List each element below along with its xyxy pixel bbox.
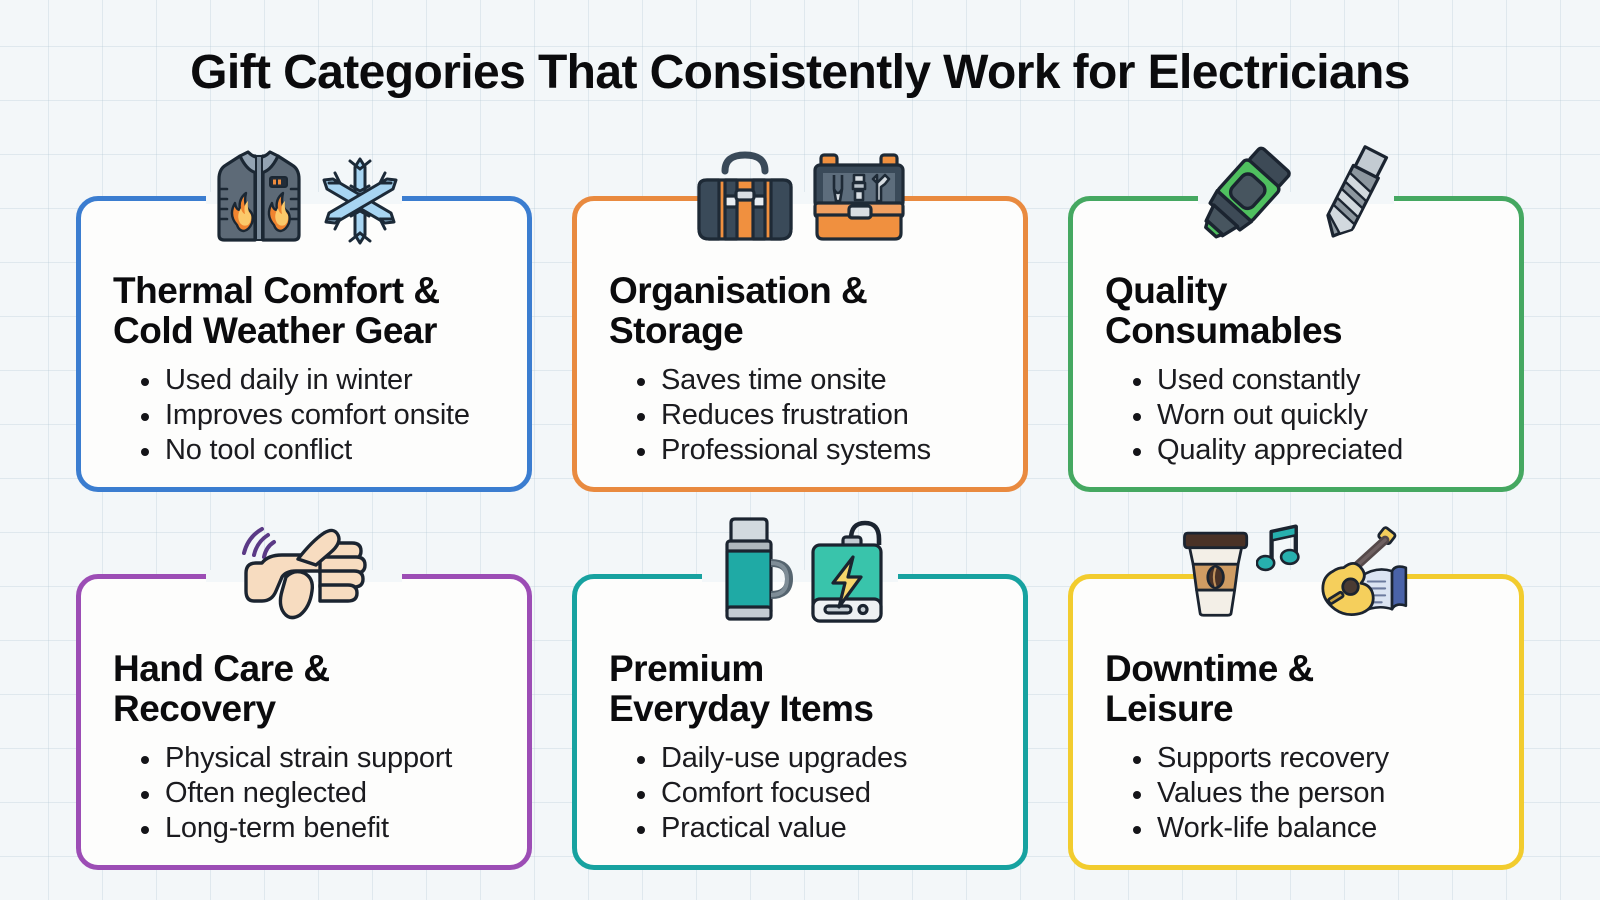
list-item: Worn out quickly	[1131, 398, 1497, 433]
card-downtime-leisure[interactable]: Downtime & Leisure Supports recovery Val…	[1068, 574, 1524, 870]
card-icon-group	[189, 139, 419, 247]
list-item: Reduces frustration	[635, 398, 1001, 433]
card-bullet-list: Supports recovery Values the person Work…	[1131, 741, 1497, 846]
list-item: Often neglected	[139, 776, 505, 811]
highlighter-marker-icon	[1188, 143, 1298, 247]
card-thermal-comfort-cold-weather-gear[interactable]: Thermal Comfort & Cold Weather Gear Used…	[76, 196, 532, 492]
card-title: Organisation & Storage	[609, 271, 1001, 351]
list-item: Practical value	[635, 811, 1001, 846]
card-bullet-list: Physical strain support Often neglected …	[139, 741, 505, 846]
list-item: Comfort focused	[635, 776, 1001, 811]
list-item: Daily-use upgrades	[635, 741, 1001, 776]
music-note-icon	[1256, 519, 1303, 581]
coffee-cup-icon	[1181, 519, 1250, 625]
infographic-root: Gift Categories That Consistently Work f…	[0, 0, 1600, 900]
list-item: Supports recovery	[1131, 741, 1497, 776]
hand-massage-icon	[224, 517, 384, 625]
snowflake-icon	[318, 155, 402, 247]
card-title: Downtime & Leisure	[1105, 649, 1497, 729]
card-icon-group	[685, 517, 915, 625]
list-item: Long-term benefit	[139, 811, 505, 846]
card-premium-everyday-items[interactable]: Premium Everyday Items Daily-use upgrade…	[572, 574, 1028, 870]
drill-bit-icon	[1304, 143, 1404, 247]
card-icon-group	[685, 139, 915, 247]
card-bullet-list: Saves time onsite Reduces frustration Pr…	[635, 363, 1001, 468]
card-quality-consumables[interactable]: Quality Consumables Used constantly Worn…	[1068, 196, 1524, 492]
card-hand-care-recovery[interactable]: Hand Care & Recovery Physical strain sup…	[76, 574, 532, 870]
card-title: Thermal Comfort & Cold Weather Gear	[113, 271, 505, 351]
guitar-icon	[1309, 519, 1411, 625]
page-title: Gift Categories That Consistently Work f…	[0, 48, 1600, 98]
list-item: Values the person	[1131, 776, 1497, 811]
tool-bag-icon	[689, 147, 801, 247]
card-icon-group	[1181, 517, 1411, 625]
list-item: Used daily in winter	[139, 363, 505, 398]
list-item: Saves time onsite	[635, 363, 1001, 398]
list-item: Work-life balance	[1131, 811, 1497, 846]
card-title: Quality Consumables	[1105, 271, 1497, 351]
card-title: Premium Everyday Items	[609, 649, 1001, 729]
list-item: Quality appreciated	[1131, 433, 1497, 468]
open-book-icon	[1361, 567, 1406, 613]
list-item: Physical strain support	[139, 741, 505, 776]
card-icon-group	[189, 517, 419, 625]
list-item: No tool conflict	[139, 433, 505, 468]
heated-vest-icon	[206, 143, 312, 247]
card-grid: Thermal Comfort & Cold Weather Gear Used…	[76, 196, 1524, 870]
tool-box-icon	[807, 147, 911, 247]
card-title: Hand Care & Recovery	[113, 649, 505, 729]
card-icon-group	[1181, 139, 1411, 247]
card-bullet-list: Daily-use upgrades Comfort focused Pract…	[635, 741, 1001, 846]
list-item: Improves comfort onsite	[139, 398, 505, 433]
card-organisation-storage[interactable]: Organisation & Storage Saves time onsite…	[572, 196, 1028, 492]
card-bullet-list: Used daily in winter Improves comfort on…	[139, 363, 505, 468]
list-item: Used constantly	[1131, 363, 1497, 398]
list-item: Professional systems	[635, 433, 1001, 468]
power-bank-icon	[801, 517, 893, 625]
thermos-flask-icon	[707, 517, 795, 625]
card-bullet-list: Used constantly Worn out quickly Quality…	[1131, 363, 1497, 468]
